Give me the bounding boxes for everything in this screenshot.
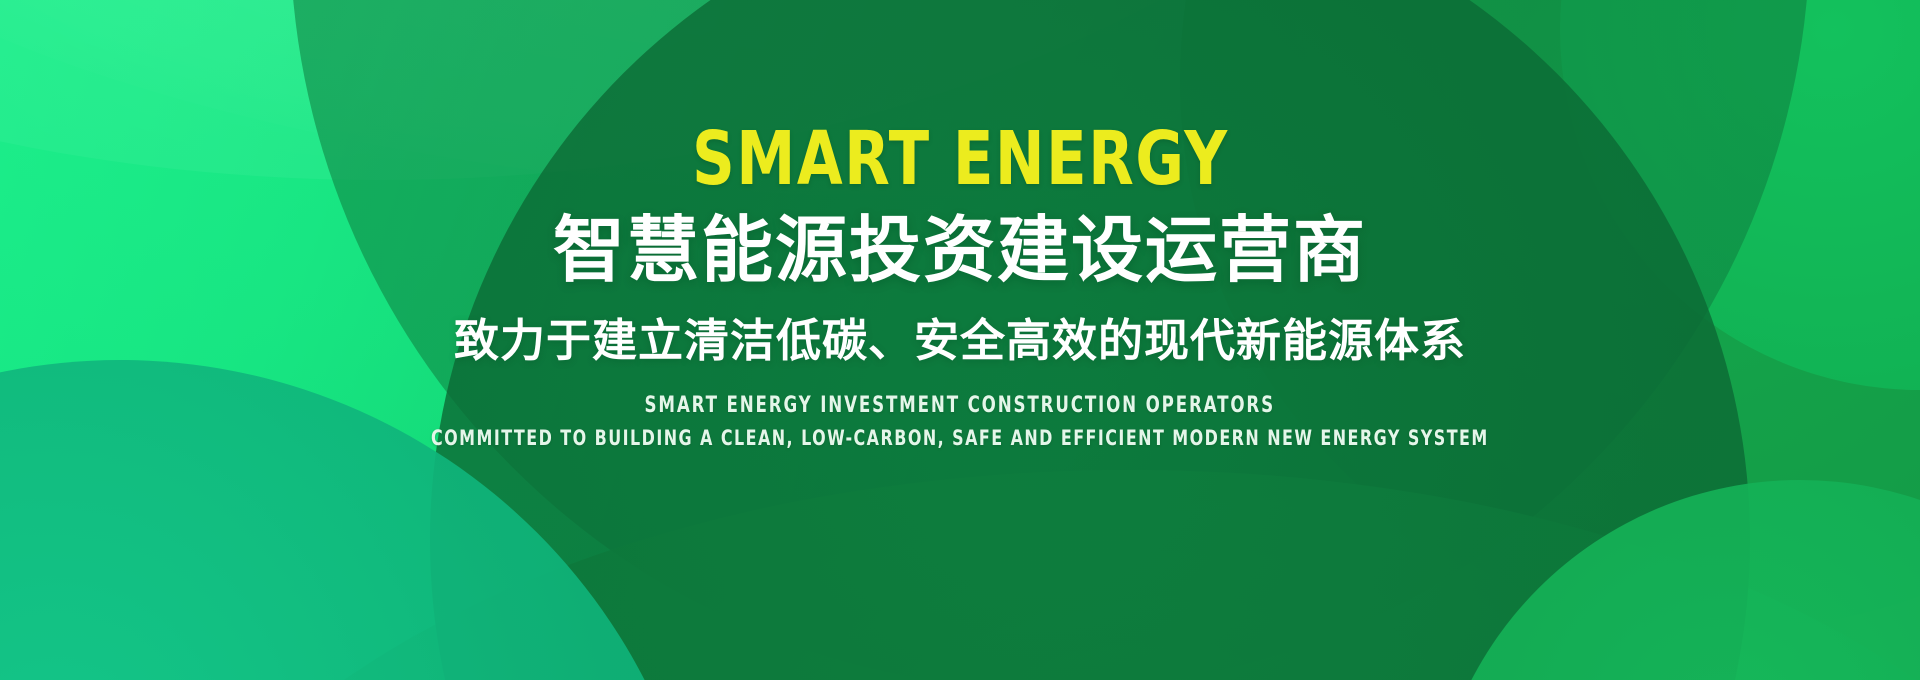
banner-caption-primary: SMART ENERGY INVESTMENT CONSTRUCTION OPE… — [645, 393, 1275, 419]
hero-banner: SMART ENERGY 智慧能源投资建设运营商 致力于建立清洁低碳、安全高效的… — [0, 0, 1920, 680]
banner-headline: 智慧能源投资建设运营商 — [553, 212, 1367, 290]
banner-text-block: SMART ENERGY 智慧能源投资建设运营商 致力于建立清洁低碳、安全高效的… — [0, 0, 1920, 680]
banner-caption-secondary: COMMITTED TO BUILDING A CLEAN, LOW-CARBO… — [431, 426, 1489, 451]
banner-eyebrow-title: SMART ENERGY — [692, 122, 1229, 196]
banner-subheadline: 致力于建立清洁低碳、安全高效的现代新能源体系 — [454, 316, 1466, 366]
